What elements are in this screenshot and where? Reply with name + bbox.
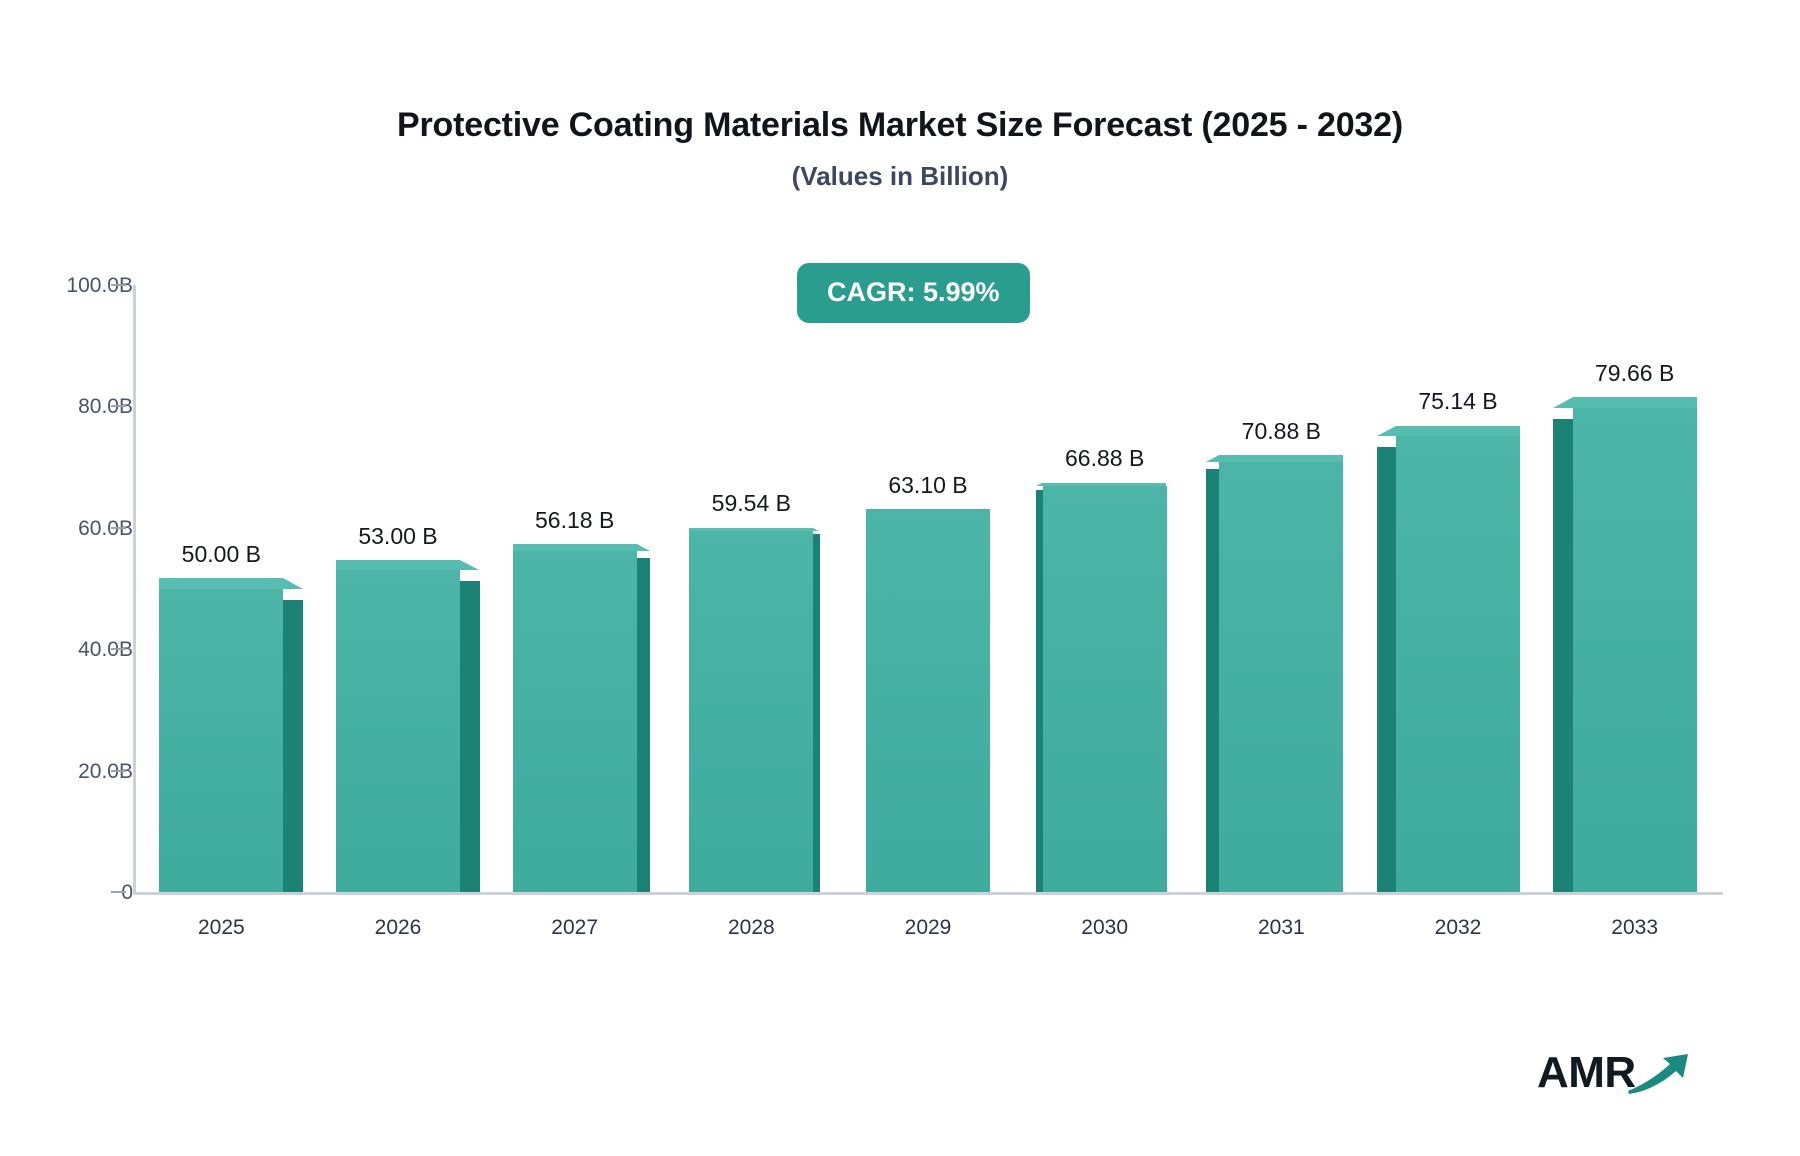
bar-value-label: 59.54 B	[712, 491, 791, 515]
bar-top-face	[336, 560, 479, 570]
bar-front-face	[513, 551, 637, 892]
chart-subtitle: (Values in Billion)	[0, 159, 1800, 193]
bar-value-label: 53.00 B	[358, 524, 437, 548]
x-axis-line	[133, 892, 1723, 895]
x-axis-tick-label: 2032	[1388, 917, 1528, 939]
x-axis-tick-label: 2028	[681, 917, 821, 939]
bar-side-face	[813, 534, 820, 892]
bar-front-face	[1573, 408, 1697, 892]
bar-value-label: 79.66 B	[1595, 361, 1674, 385]
y-axis-tick-mark	[111, 284, 126, 286]
bar: 66.88 B	[1043, 486, 1167, 892]
bar: 59.54 B	[689, 531, 813, 892]
x-axis-tick-label: 2026	[328, 917, 468, 939]
bar-front-face	[1396, 436, 1520, 892]
plot-area: 020.0B40.0B60.0B80.0B100.0B 202520262027…	[133, 285, 1723, 895]
bar-value-label: 70.88 B	[1242, 419, 1321, 443]
y-axis-tick-mark	[111, 891, 126, 893]
bar: 53.00 B	[336, 570, 460, 892]
bar-front-face	[689, 531, 813, 892]
y-axis-tick-mark	[111, 527, 126, 529]
x-axis-tick-label: 2030	[1035, 917, 1175, 939]
x-axis-tick-label: 2025	[151, 917, 291, 939]
y-axis-tick-mark	[111, 770, 126, 772]
y-axis-line	[133, 285, 136, 895]
bar-front-face	[336, 570, 460, 892]
bar-top-face	[159, 578, 303, 589]
x-axis-tick-label: 2027	[505, 917, 645, 939]
amr-logo: AMR	[1537, 1045, 1692, 1100]
bar-side-face	[637, 558, 650, 892]
x-axis-tick-label: 2033	[1565, 917, 1705, 939]
bar: 50.00 B	[159, 589, 283, 893]
y-axis-tick-mark	[111, 648, 126, 650]
bar-top-face	[1377, 426, 1520, 436]
bar: 56.18 B	[513, 551, 637, 892]
bar-side-face	[1553, 419, 1573, 892]
bar-top-face	[1206, 455, 1343, 462]
x-axis-tick-label: 2031	[1211, 917, 1351, 939]
bar-side-face	[460, 581, 480, 892]
bar-top-face	[513, 544, 650, 551]
bar-value-label: 75.14 B	[1418, 389, 1497, 413]
chart-container: Protective Coating Materials Market Size…	[0, 0, 1800, 1156]
bar-top-face	[1553, 397, 1697, 408]
bar-value-label: 50.00 B	[182, 542, 261, 566]
page-title: Protective Coating Materials Market Size…	[0, 105, 1800, 145]
bar-front-face	[1043, 486, 1167, 892]
bar-front-face	[866, 509, 990, 892]
bar-side-face	[1206, 469, 1219, 892]
bar-front-face	[159, 589, 283, 893]
bar: 63.10 B	[866, 509, 990, 892]
y-axis-tick-mark	[111, 405, 126, 407]
logo-text: AMR	[1537, 1051, 1636, 1095]
bar-value-label: 56.18 B	[535, 508, 614, 532]
bar: 75.14 B	[1396, 436, 1520, 892]
bar-front-face	[1219, 462, 1343, 892]
title-block: Protective Coating Materials Market Size…	[0, 105, 1800, 193]
bar: 70.88 B	[1219, 462, 1343, 892]
bar-side-face	[1377, 447, 1397, 892]
bar-side-face	[283, 600, 303, 893]
growth-arrow-icon	[1626, 1051, 1692, 1100]
x-axis-tick-label: 2029	[858, 917, 998, 939]
bar-value-label: 63.10 B	[888, 473, 967, 497]
bar: 79.66 B	[1573, 408, 1697, 892]
bar-value-label: 66.88 B	[1065, 446, 1144, 470]
